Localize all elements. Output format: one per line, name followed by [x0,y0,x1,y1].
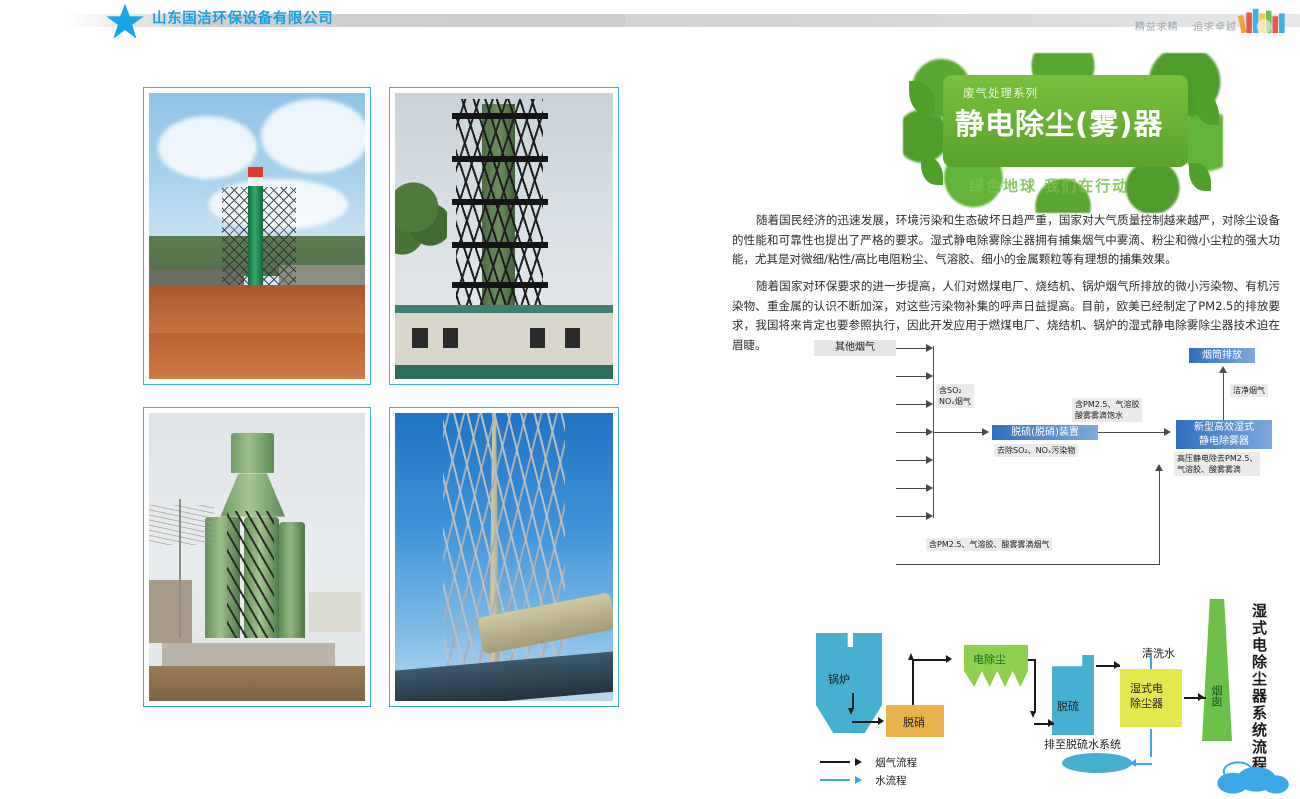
colored-books-icon [1236,6,1294,34]
slogan-right: 追求卓越 [1193,22,1237,33]
photo-black-steel-tower [389,87,619,385]
slogan-left: 精益求精 [1135,22,1179,33]
legend-flue-gas: 烟气流程 [820,751,917,770]
photo-grid [143,87,621,707]
flow-label-pm-mid: 含PM2.5、气溶胶 酸雾雾滴饱水 [1072,398,1142,422]
flow-node-stack-emission: 烟筒排放 [1189,348,1255,363]
flow-caption-wet-esp: 高压静电除去PM2.5、 气溶胶、酸雾雾滴 [1174,452,1260,476]
right-column: 废气处理系列 静电除尘(雾)器 绿色地球 我们在行动 随着国民经济的迅速发展，环… [728,45,1288,745]
schematic-chimney [1202,599,1232,741]
schematic-drain-note: 排至脱硫水系统 [1044,736,1121,752]
legend-water-label: 水流程 [875,775,907,787]
banner-title: 静电除尘(雾)器 [955,101,1164,143]
schematic-wash-water-label: 清洗水 [1142,645,1175,661]
flow-caption-desulfurization: 去除SO₂、NOₓ污染物 [994,444,1078,457]
legend-flue-gas-label: 烟气流程 [875,757,917,769]
page-header: 山东国洁环保设备有限公司 精益求精 追求卓越 [0,0,1300,34]
flow-label-bottom-flue: 含PM2.5、气溶胶、酸雾雾滴烟气 [926,538,1052,551]
flow-source-other: 其他烟气 [814,340,896,356]
schematic-chimney-label: 烟囱 [1208,685,1224,707]
block-flow-diagram: 电厂燃煤锅炉 有色冶金炉窑 玻璃生产炉窑 水泥生产炉窑 化工生产线 纺织生产线 … [814,340,1288,580]
legend-water: 水流程 [820,769,907,788]
flow-node-wet-esp: 新型高效湿式 静电除雾器 [1176,420,1272,449]
schematic-desulfurization-label: 脱硫 [1057,698,1079,714]
company-name: 山东国洁环保设备有限公司 [152,7,333,28]
schematic-drain-pond [1062,753,1132,773]
schematic-desulfurization [1052,655,1094,735]
photo-green-stack-scaffolding [143,87,371,385]
schematic-esp-label: 电除尘 [973,651,1006,667]
header-gradient-bar-left [65,14,625,27]
flow-label-so2: 含SO₂ NOₓ烟气 [936,384,974,408]
photo-green-scrubber-vessels [143,407,371,707]
photo-lattice-tower-blue-sky [389,407,619,707]
schematic-wet-esp-label: 湿式电 除尘器 [1130,681,1163,711]
flow-label-clean-gas: 洁净烟气 [1230,384,1268,397]
process-schematic-diagram: 锅炉 脱硝 电除尘 脱硫 湿式电 除尘器 烟囱 排至脱硫水系统 清洗水 [812,593,1288,793]
flow-node-desulfurization: 脱硫(脱硝)装置 [992,425,1098,440]
blue-star-icon [104,2,146,42]
product-banner: 废气处理系列 静电除尘(雾)器 绿色地球 我们在行动 [903,53,1223,213]
banner-footer-slogan: 绿色地球 我们在行动 [969,175,1129,196]
blue-cloud-logo-icon [1216,753,1294,799]
banner-series-label: 废气处理系列 [963,85,1038,101]
header-slogan: 精益求精 追求卓越 [1125,18,1237,33]
schematic-denitrification-label: 脱硝 [903,714,925,730]
brochure-page: 山东国洁环保设备有限公司 精益求精 追求卓越 [0,0,1300,748]
schematic-boiler-label: 锅炉 [828,671,850,687]
intro-paragraph-1: 随着国民经济的迅速发展，环境污染和生态破坏日趋严重，国家对大气质量控制越来越严，… [732,211,1280,270]
